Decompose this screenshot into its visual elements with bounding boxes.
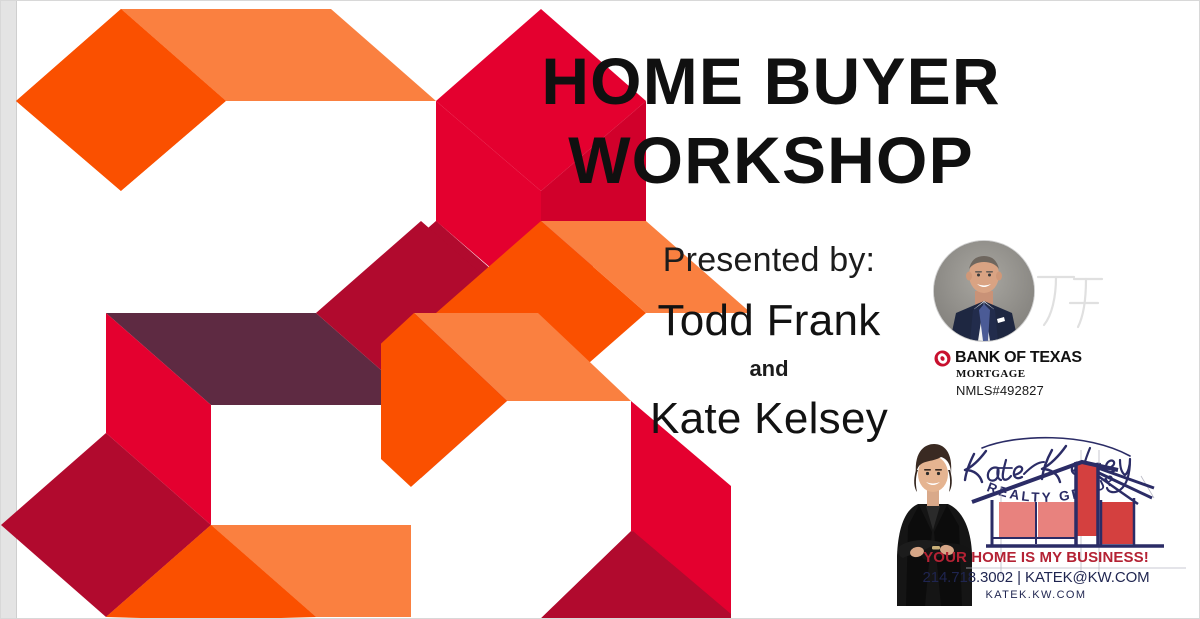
todd-frank-headshot-avatar bbox=[934, 241, 1034, 341]
presented-by-label: Presented by: bbox=[589, 241, 949, 280]
title-line-1: HOME BUYER bbox=[471, 49, 1071, 114]
agent-eye-right bbox=[937, 472, 940, 475]
agent-brow-right bbox=[935, 469, 942, 471]
agent-hair-side-right bbox=[948, 470, 952, 492]
presenter-conjunction: and bbox=[589, 356, 949, 382]
event-banner: HOME BUYER WORKSHOP Presented by: Todd F… bbox=[0, 0, 1200, 619]
headshot-ear-right bbox=[996, 272, 1002, 281]
presenter-name-todd-frank: Todd Frank bbox=[589, 296, 949, 346]
bank-logo-row: BANK OF TEXAS bbox=[934, 349, 1144, 367]
house-tower bbox=[1076, 464, 1098, 536]
bank-nmls-number: NMLS#492827 bbox=[956, 383, 1144, 398]
house-right-block bbox=[1101, 502, 1134, 544]
agent-eye-left bbox=[926, 472, 929, 475]
page-title: HOME BUYER WORKSHOP bbox=[471, 49, 1071, 192]
bank-of-texas-mark-icon bbox=[934, 350, 951, 367]
house-panel-1 bbox=[999, 502, 1036, 538]
content-column: HOME BUYER WORKSHOP Presented by: Todd F… bbox=[471, 1, 1200, 619]
headshot-brow-left bbox=[975, 271, 982, 273]
realty-tagline: YOUR HOME IS MY BUSINESS! bbox=[886, 549, 1186, 566]
agent-brow-left bbox=[924, 469, 931, 471]
headshot-eye-right bbox=[988, 274, 991, 277]
agent-hair-side-left bbox=[914, 470, 918, 492]
tf-monogram-watermark bbox=[1030, 263, 1110, 333]
headshot-group bbox=[926, 241, 1116, 346]
headshot-ear-left bbox=[966, 272, 972, 281]
title-line-2: WORKSHOP bbox=[471, 128, 1071, 193]
monogram-t-stem bbox=[1044, 277, 1056, 325]
bank-of-texas-division: MORTGAGE bbox=[956, 368, 1144, 380]
headshot-eye-left bbox=[977, 274, 980, 277]
bank-of-texas-logo: BANK OF TEXAS MORTGAGE NMLS#492827 bbox=[934, 349, 1144, 398]
house-panel-2 bbox=[1038, 502, 1075, 538]
realty-website: KATEK.KW.COM bbox=[886, 589, 1186, 601]
realty-contact-line: 214.718.3002 | KATEK@KW.COM bbox=[886, 569, 1186, 586]
bank-of-texas-name: BANK OF TEXAS bbox=[955, 349, 1082, 367]
headshot-brow-right bbox=[986, 271, 993, 273]
